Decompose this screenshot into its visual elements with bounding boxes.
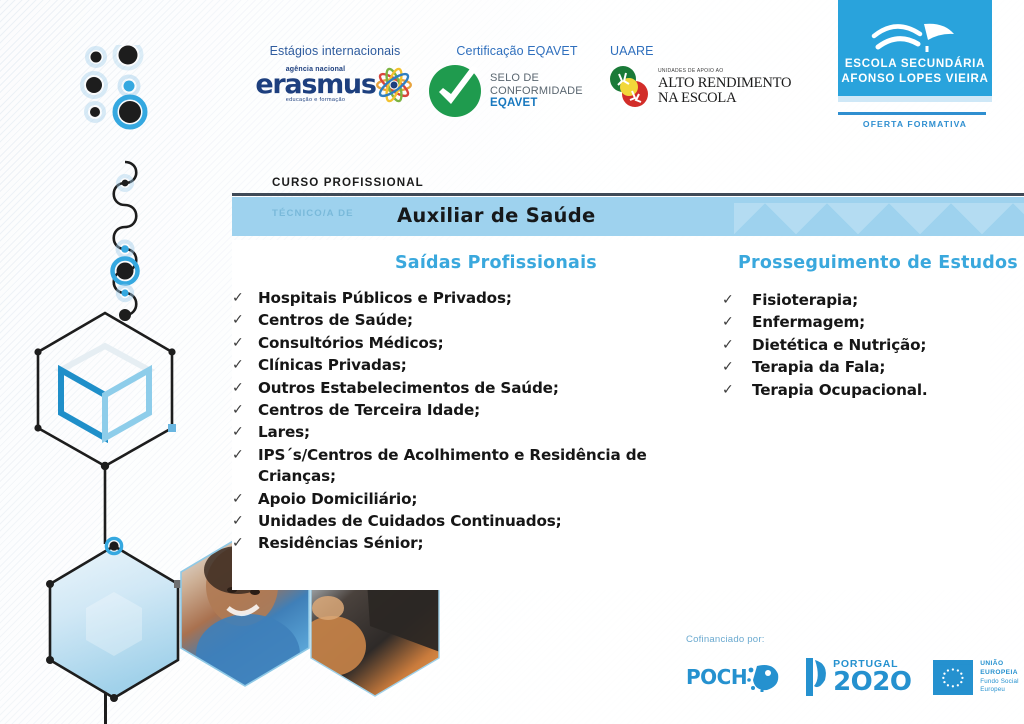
check-icon: ✓ xyxy=(232,511,258,532)
eqavet-line3: EQAVET xyxy=(490,97,583,110)
check-icon: ✓ xyxy=(722,312,752,333)
school-divider-rule xyxy=(838,112,986,115)
header-logo-row: Estágios internacionais agência nacional… xyxy=(250,44,840,140)
green-check-seal-icon xyxy=(428,64,482,118)
footer-funding: Cofinanciado por: POCH xyxy=(686,634,1006,714)
list-item-label: Residências Sénior; xyxy=(258,533,423,554)
poch-head-icon xyxy=(747,662,781,692)
check-icon: ✓ xyxy=(232,310,258,331)
check-icon: ✓ xyxy=(722,357,752,378)
list-item-label: Terapia da Fala; xyxy=(752,357,885,378)
list-prosseguimento-estudos: ✓Fisioterapia;✓Enfermagem;✓Dietética e N… xyxy=(722,290,984,402)
year-2020-label: 2O2O xyxy=(833,670,911,695)
heading-saidas-profissionais: Saídas Profissionais xyxy=(395,253,597,273)
cofinanced-label: Cofinanciado por: xyxy=(686,634,765,645)
logo-eqavet: Certificação EQAVET SELO DE CONFORMIDADE… xyxy=(428,44,606,118)
course-prefix: TÉCNICO/A DE xyxy=(272,208,354,219)
list-item-label: IPS´s/Centros de Acolhimento e Residênci… xyxy=(258,445,647,488)
check-icon: ✓ xyxy=(232,422,258,443)
list-item: ✓Terapia Ocupacional. xyxy=(722,380,984,401)
list-item: ✓Consultórios Médicos; xyxy=(232,333,647,354)
list-item: ✓Lares; xyxy=(232,422,647,443)
school-name: ESCOLA SECUNDÁRIA AFONSO LOPES VIEIRA xyxy=(838,57,992,87)
school-name-line2: AFONSO LOPES VIEIRA xyxy=(838,72,992,87)
school-name-line1: ESCOLA SECUNDÁRIA xyxy=(838,57,992,72)
check-icon: ✓ xyxy=(232,400,258,421)
check-icon: ✓ xyxy=(722,290,752,311)
list-item: ✓Hospitais Públicos e Privados; xyxy=(232,288,647,309)
list-item: ✓Fisioterapia; xyxy=(722,290,984,311)
check-icon: ✓ xyxy=(232,445,258,466)
list-item-label: Consultórios Médicos; xyxy=(258,333,444,354)
check-icon: ✓ xyxy=(722,380,752,401)
uaare-line1: ALTO RENDIMENTO xyxy=(658,76,791,91)
school-logo-box: ESCOLA SECUNDÁRIA AFONSO LOPES VIEIRA xyxy=(838,0,992,96)
uaare-emblem-icon xyxy=(606,64,652,110)
eu-flag-icon xyxy=(933,660,973,695)
logo-european-union: UNIÃO EUROPEIA Fundo Social Europeu xyxy=(933,660,1024,695)
check-icon: ✓ xyxy=(232,489,258,510)
uaare-top-line: UNIDADES DE APOIO AO xyxy=(658,69,791,74)
logo-uaare: UAARE UNIDADES DE APOIO AO ALTO RENDIMEN… xyxy=(606,44,806,110)
list-item: ✓Centros de Saúde; xyxy=(232,310,647,331)
erasmus-wordmark: erasmus xyxy=(255,73,375,98)
funding-logo-row: POCH PORTUGAL 2O2O xyxy=(686,656,1024,698)
school-underbar xyxy=(838,96,992,102)
list-item: ✓Unidades de Cuidados Continuados; xyxy=(232,511,647,532)
check-icon: ✓ xyxy=(232,333,258,354)
school-logo: ESCOLA SECUNDÁRIA AFONSO LOPES VIEIRA OF… xyxy=(838,0,1024,141)
list-item-label: Enfermagem; xyxy=(752,312,865,333)
list-item: ✓Outros Estabelecimentos de Saúde; xyxy=(232,378,647,399)
hexagon-glass-shape xyxy=(46,538,182,702)
check-icon: ✓ xyxy=(232,533,258,554)
list-item-label: Dietética e Nutrição; xyxy=(752,335,926,356)
list-item-label: Centros de Saúde; xyxy=(258,310,413,331)
list-item: ✓Enfermagem; xyxy=(722,312,984,333)
logo-erasmus: Estágios internacionais agência nacional… xyxy=(250,44,420,106)
list-item: ✓Residências Sénior; xyxy=(232,533,647,554)
course-title: Auxiliar de Saúde xyxy=(397,204,596,227)
dot-cluster-icon xyxy=(78,45,198,165)
check-icon: ✓ xyxy=(232,288,258,309)
list-item-label: Centros de Terceira Idade; xyxy=(258,400,480,421)
school-tagline: OFERTA FORMATIVA xyxy=(838,119,992,129)
list-item-label: Lares; xyxy=(258,422,310,443)
list-item-label: Unidades de Cuidados Continuados; xyxy=(258,511,562,532)
list-item: ✓Apoio Domiciliário; xyxy=(232,489,647,510)
check-icon: ✓ xyxy=(232,378,258,399)
check-icon: ✓ xyxy=(232,355,258,376)
logo-uaare-caption: UAARE xyxy=(606,44,806,58)
eqavet-line2: CONFORMIDADE xyxy=(490,85,583,97)
list-item-label: Fisioterapia; xyxy=(752,290,858,311)
list-item: ✓Dietética e Nutrição; xyxy=(722,335,984,356)
check-icon: ✓ xyxy=(722,335,752,356)
list-item: ✓Terapia da Fala; xyxy=(722,357,984,378)
eu-line2: Fundo Social Europeu xyxy=(980,678,1024,695)
erasmus-star-icon xyxy=(373,64,415,106)
list-item-label: Clínicas Privadas; xyxy=(258,355,407,376)
squiggle-chain-icon xyxy=(78,157,168,357)
logo-erasmus-caption: Estágios internacionais xyxy=(250,44,420,58)
heading-prosseguimento-estudos: Prosseguimento de Estudos xyxy=(738,253,1018,273)
list-item-label: Hospitais Públicos e Privados; xyxy=(258,288,512,309)
logo-poch: POCH xyxy=(686,662,781,692)
logo-eqavet-caption: Certificação EQAVET xyxy=(428,44,606,58)
course-rule xyxy=(232,193,1024,196)
list-item: ✓IPS´s/Centros de Acolhimento e Residênc… xyxy=(232,445,647,488)
portugal-2020-icon xyxy=(803,656,829,698)
list-item-label: Terapia Ocupacional. xyxy=(752,380,928,401)
wave-bird-icon xyxy=(870,16,960,56)
list-saidas-profissionais: ✓Hospitais Públicos e Privados;✓Centros … xyxy=(232,288,647,556)
eqavet-line1: SELO DE xyxy=(490,72,583,84)
poch-wordmark: POCH xyxy=(686,665,747,689)
uaare-line2: NA ESCOLA xyxy=(658,91,791,106)
logo-portugal-2020: PORTUGAL 2O2O xyxy=(803,656,911,698)
list-item: ✓Centros de Terceira Idade; xyxy=(232,400,647,421)
list-item: ✓Clínicas Privadas; xyxy=(232,355,647,376)
hexagon-cube-icon xyxy=(18,308,198,548)
chevron-pattern-decoration xyxy=(734,197,1024,236)
poster-page: Estágios internacionais agência nacional… xyxy=(0,0,1024,724)
course-kicker: CURSO PROFISSIONAL xyxy=(272,176,424,189)
eu-line1: UNIÃO EUROPEIA xyxy=(980,660,1024,678)
list-item-label: Apoio Domiciliário; xyxy=(258,489,417,510)
list-item-label: Outros Estabelecimentos de Saúde; xyxy=(258,378,559,399)
